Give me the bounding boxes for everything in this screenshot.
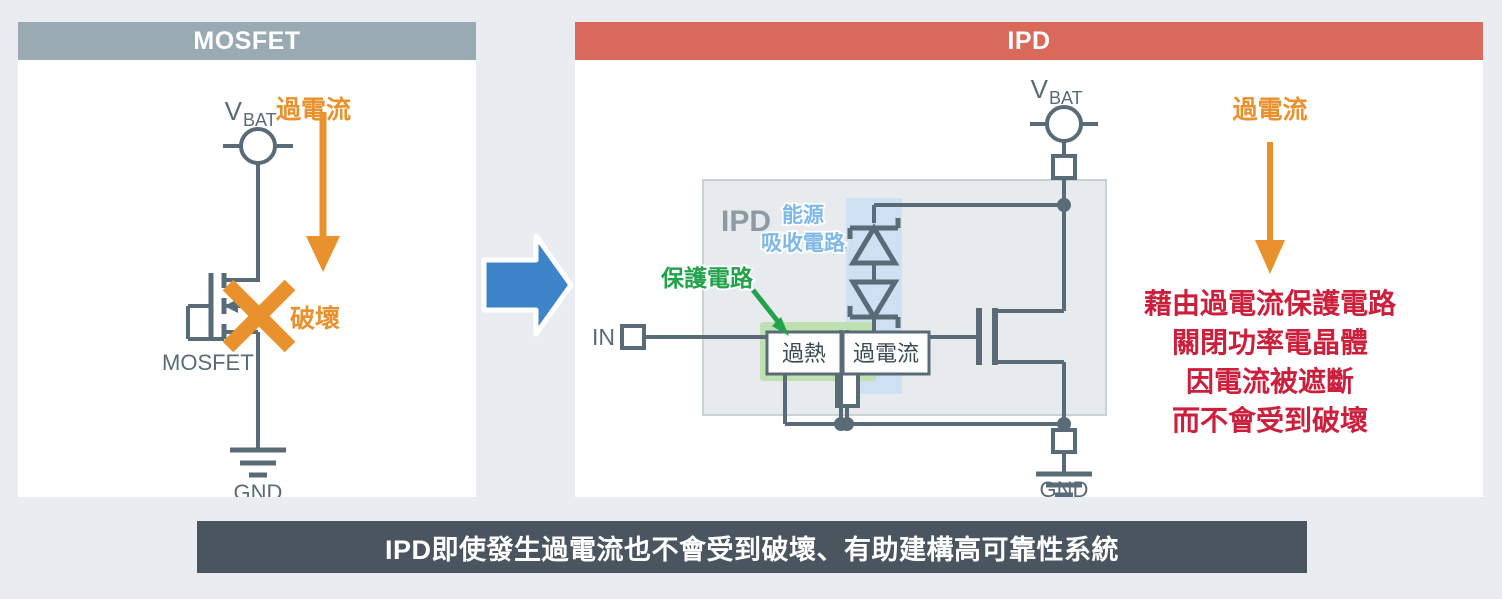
ipd-panel-header: IPD (575, 22, 1483, 60)
summary-banner: IPD即使發生過電流也不會受到破壞、有助建構高可靠性系統 (197, 521, 1307, 573)
vbat-sublabel: BAT (243, 110, 277, 130)
damage-label: 破壞 (290, 304, 340, 333)
ipd-panel-title: IPD (1007, 27, 1050, 56)
junction-dot (840, 417, 854, 431)
overcurrent-arrow-icon (1255, 142, 1285, 274)
ground-symbol (230, 450, 286, 475)
result-line-4: 而不會受到破壞 (1172, 404, 1368, 436)
mosfet-panel-body: V BAT 過電流 破壞 MOSFET GND (18, 60, 476, 497)
ipd-panel-body: V BAT IN GND IPD 能源 吸收電路 保護電路 過熱 過電流 過電流… (575, 60, 1483, 497)
protection-box-overheat-label: 過熱 (782, 341, 826, 366)
in-terminal-pad (622, 326, 644, 348)
result-line-2: 關閉功率電晶體 (1172, 326, 1368, 358)
gnd-label: GND (234, 480, 283, 497)
result-line-3: 因電流被遮斷 (1186, 365, 1354, 397)
energy-absorb-label-line2: 吸收電路 (761, 231, 846, 255)
summary-banner-text: IPD即使發生過電流也不會受到破壞、有助建構高可靠性系統 (385, 528, 1119, 567)
mosfet-circuit-diagram: V BAT 過電流 破壞 MOSFET GND (18, 60, 476, 497)
energy-absorb-label-line1: 能源 (782, 203, 824, 227)
mosfet-panel: MOSFET (18, 22, 476, 497)
vbat-label: V (225, 96, 243, 126)
protection-box-overcurrent-label: 過電流 (853, 341, 919, 366)
transition-arrow-icon (478, 232, 576, 338)
overcurrent-arrow-icon (306, 112, 340, 272)
ipd-circuit-diagram: V BAT IN GND IPD 能源 吸收電路 保護電路 過熱 過電流 過電流… (575, 60, 1483, 497)
mosfet-device-label: MOSFET (162, 350, 254, 375)
mosfet-panel-header: MOSFET (18, 22, 476, 60)
gnd-terminal-pad (1053, 430, 1075, 452)
ipd-panel: IPD (575, 22, 1483, 497)
vbat-terminal-pad (1053, 156, 1075, 178)
overcurrent-label: 過電流 (276, 96, 351, 124)
overcurrent-label: 過電流 (1232, 96, 1307, 124)
vbat-source-symbol (223, 129, 293, 163)
vbat-source-symbol (1030, 107, 1098, 141)
in-label: IN (592, 324, 615, 350)
vbat-label: V (1031, 74, 1049, 104)
result-line-1: 藉由過電流保護電路 (1144, 287, 1397, 319)
protection-label: 保護電路 (660, 265, 754, 291)
mosfet-panel-title: MOSFET (193, 27, 300, 56)
gnd-label: GND (1040, 477, 1089, 497)
vbat-sublabel: BAT (1049, 88, 1083, 108)
